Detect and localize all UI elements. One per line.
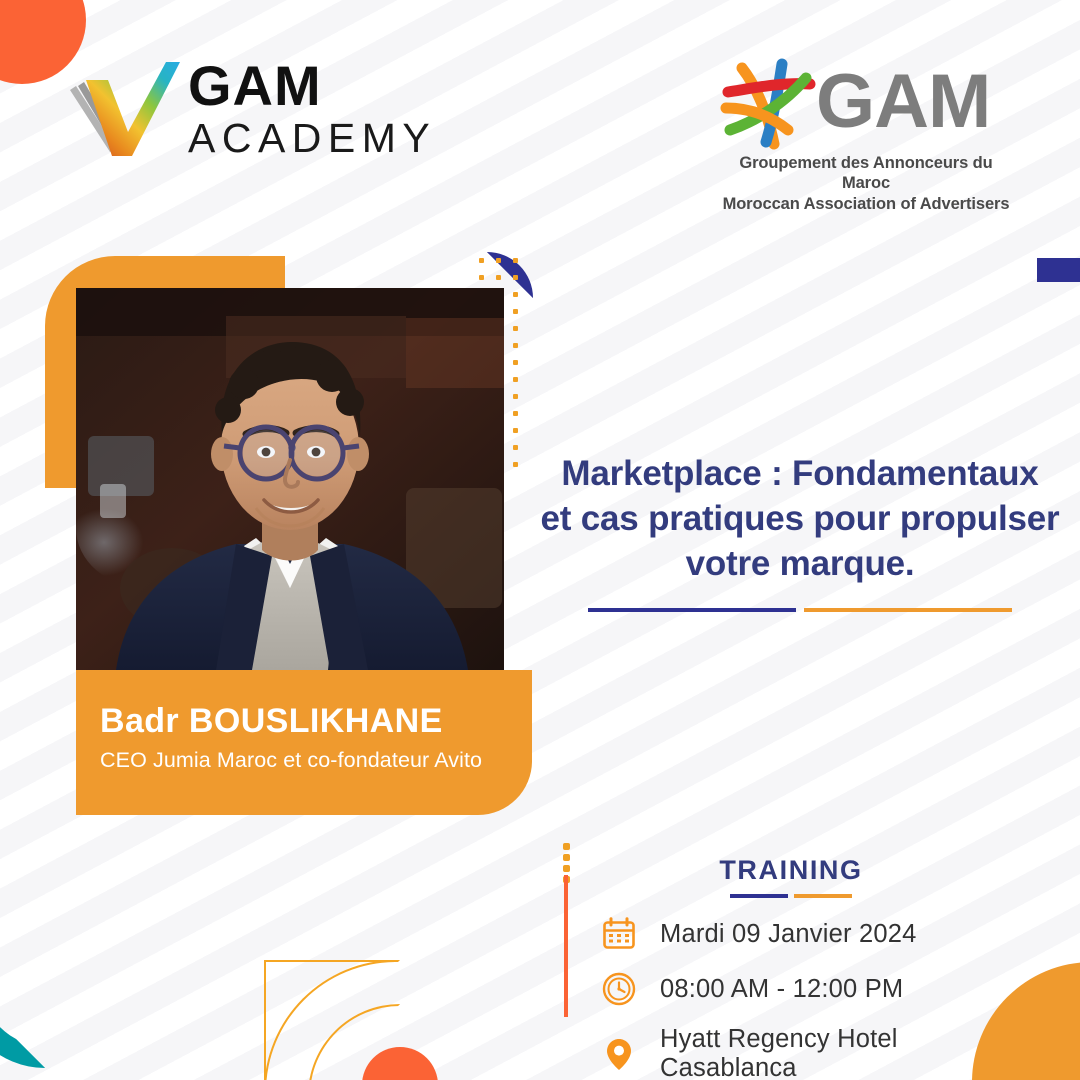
association-tagline-fr: Groupement des Annonceurs du Maroc (716, 153, 1016, 193)
training-details: TRAINING Mardi 09 Janvier 2 (600, 855, 1040, 1080)
speaker-name: Badr BOUSLIKHANE (100, 702, 443, 741)
detail-row-location: Hyatt Regency Hotel Casablanca (600, 1025, 1040, 1080)
title-divider-navy (588, 608, 796, 612)
association-logo-gam-text: GAM (816, 66, 990, 138)
detail-row-date: Mardi 09 Janvier 2024 (600, 915, 1040, 953)
detail-time-text: 08:00 AM - 12:00 PM (660, 975, 903, 1004)
speaker-role: CEO Jumia Maroc et co-fondateur Avito (100, 748, 482, 773)
gam-association-logo: GAM Groupement des Annonceurs du Maroc M… (716, 52, 1016, 214)
title-divider-orange (804, 608, 1012, 612)
decor-vertical-dots (563, 843, 571, 873)
detail-date-text: Mardi 09 Janvier 2024 (660, 920, 917, 949)
gam-star-icon (716, 52, 820, 152)
session-title-line-2: et cas pratiques pour propulser (520, 497, 1080, 542)
training-divider-orange (794, 894, 852, 898)
detail-location-text: Hyatt Regency Hotel Casablanca (660, 1025, 1040, 1080)
session-title-block: Marketplace : Fondamentaux et cas pratiq… (520, 452, 1080, 612)
decor-vertical-divider (564, 875, 568, 1017)
academy-logo-gam-text: GAM (188, 58, 436, 114)
training-heading-block: TRAINING (600, 855, 982, 898)
detail-row-time: 08:00 AM - 12:00 PM (600, 970, 1040, 1008)
gradient-checkmark-icon (62, 52, 184, 164)
title-divider (520, 608, 1080, 612)
speaker-name-card: Badr BOUSLIKHANE CEO Jumia Maroc et co-f… (76, 670, 532, 815)
decor-rect-top-right (1037, 258, 1080, 282)
training-heading: TRAINING (600, 855, 982, 886)
event-poster: GAM ACADEMY GAM Groupement des Annonceur (0, 0, 1080, 1080)
session-title-line-3: votre marque. (520, 542, 1080, 587)
decor-arc-teal (0, 983, 45, 1068)
clock-icon (600, 970, 638, 1008)
calendar-icon (600, 915, 638, 953)
location-pin-icon (600, 1035, 638, 1073)
association-tagline-en: Moroccan Association of Advertisers (716, 194, 1016, 214)
training-heading-divider (600, 894, 982, 898)
academy-logo-academy-text: ACADEMY (188, 118, 436, 159)
session-title-line-1: Marketplace : Fondamentaux (520, 452, 1080, 497)
training-divider-navy (730, 894, 788, 898)
gam-academy-logo: GAM ACADEMY (62, 52, 436, 164)
speaker-photo (76, 288, 504, 670)
